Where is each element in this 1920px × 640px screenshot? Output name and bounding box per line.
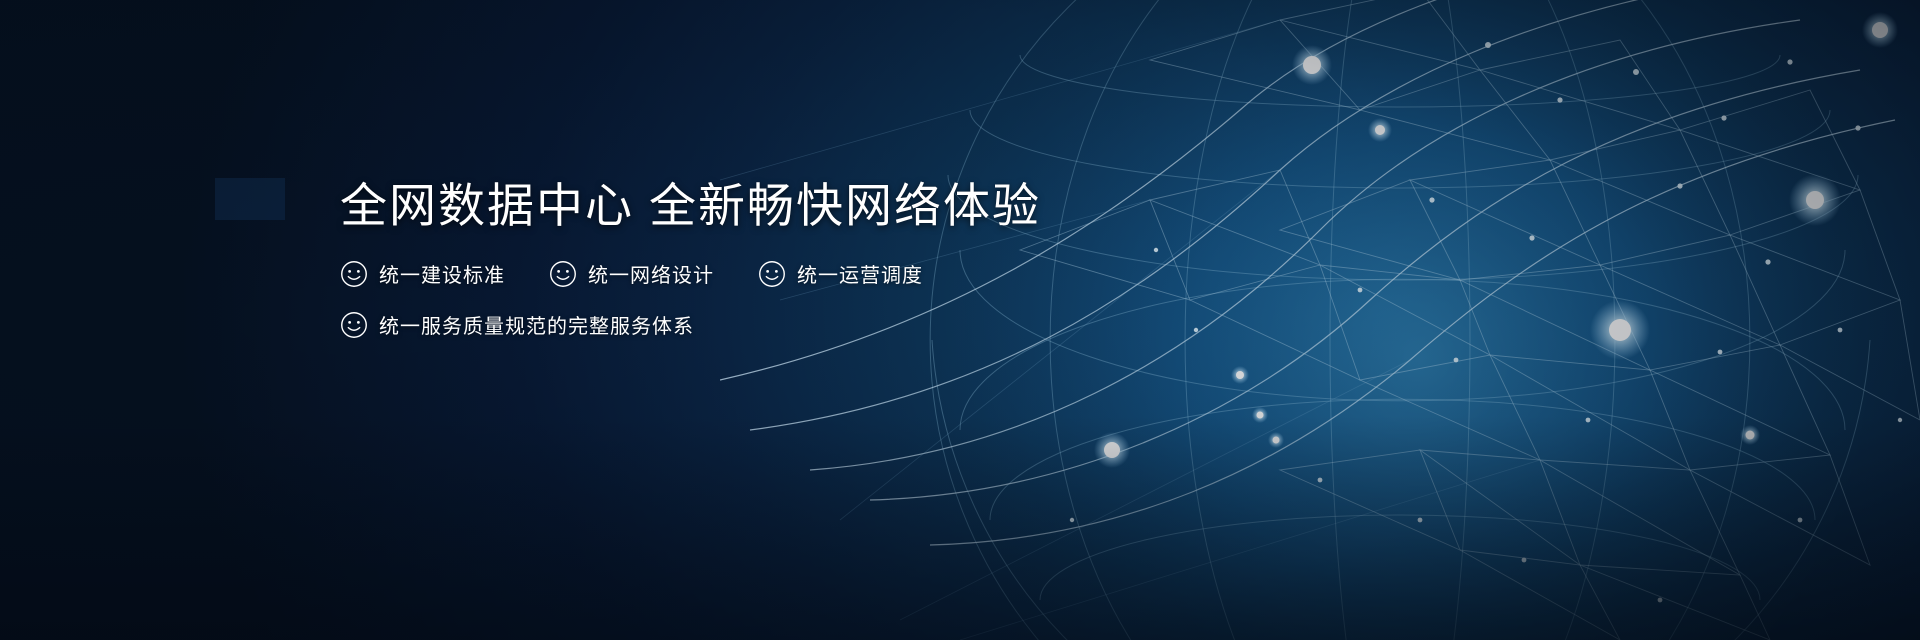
- feature-label: 统一运营调度: [797, 259, 923, 288]
- smiley-face-icon: [758, 260, 786, 288]
- banner-headline: 全网数据中心 全新畅快网络体验: [340, 178, 1100, 233]
- feature-item: 统一服务质量规范的完整服务体系: [340, 310, 694, 339]
- feature-label: 统一建设标准: [379, 259, 505, 288]
- feature-label: 统一服务质量规范的完整服务体系: [379, 310, 694, 339]
- hero-banner: 全网数据中心 全新畅快网络体验 统一建设标准: [0, 0, 1920, 640]
- feature-list: 统一建设标准 统一网络设计: [340, 259, 1100, 339]
- feature-row: 统一服务质量规范的完整服务体系: [340, 310, 1100, 339]
- feature-item: 统一运营调度: [758, 259, 923, 288]
- feature-item: 统一建设标准: [340, 259, 505, 288]
- banner-content: 全网数据中心 全新畅快网络体验 统一建设标准: [340, 178, 1100, 339]
- feature-row: 统一建设标准 统一网络设计: [340, 259, 1100, 288]
- smiley-face-icon: [549, 260, 577, 288]
- smiley-face-icon: [340, 311, 368, 339]
- feature-label: 统一网络设计: [588, 259, 714, 288]
- smiley-face-icon: [340, 260, 368, 288]
- feature-item: 统一网络设计: [549, 259, 714, 288]
